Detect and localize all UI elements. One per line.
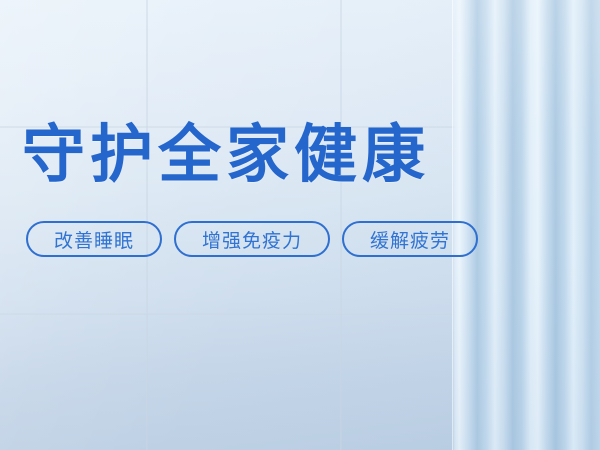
promo-banner: 守护全家健康 改善睡眠 增强免疫力 缓解疲劳 <box>0 0 600 450</box>
banner-content: 守护全家健康 改善睡眠 增强免疫力 缓解疲劳 <box>22 0 600 450</box>
headline: 守护全家健康 <box>22 122 430 188</box>
benefit-tag-boost-immunity[interactable]: 增强免疫力 <box>174 221 330 257</box>
benefit-tag-relieve-fatigue[interactable]: 缓解疲劳 <box>342 221 478 257</box>
benefit-tag-improve-sleep[interactable]: 改善睡眠 <box>26 221 162 257</box>
benefit-tag-row: 改善睡眠 增强免疫力 缓解疲劳 <box>26 221 478 257</box>
